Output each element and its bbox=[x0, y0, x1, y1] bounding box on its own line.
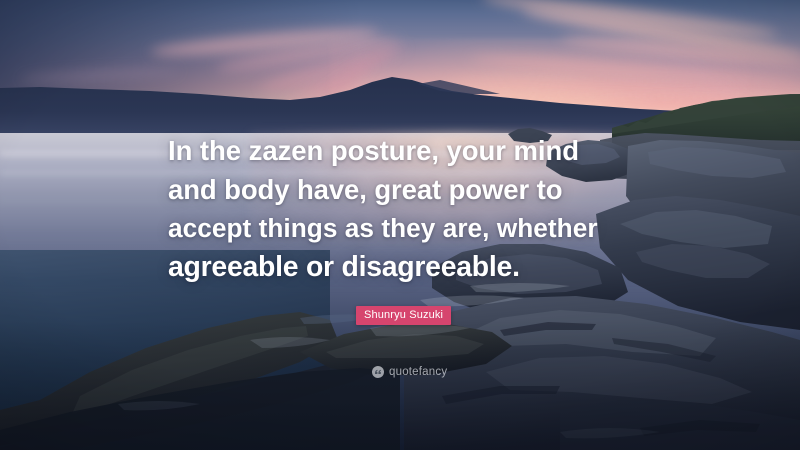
quote-line-1: In the zazen posture, your mind bbox=[168, 131, 636, 170]
quote-text-block: In the zazen posture, your mind and body… bbox=[168, 131, 636, 287]
quotefancy-brand-label: quotefancy bbox=[389, 366, 447, 378]
author-attribution-badge: Shunryu Suzuki bbox=[356, 306, 451, 325]
quote-poster: In the zazen posture, your mind and body… bbox=[0, 0, 800, 450]
quote-mark-icon bbox=[372, 366, 384, 378]
quotefancy-watermark: quotefancy bbox=[372, 366, 447, 378]
quote-line-3: accept things as they are, whether bbox=[168, 209, 636, 248]
quote-line-2: and body have, great power to bbox=[168, 170, 636, 209]
quote-line-4: agreeable or disagreeable. bbox=[168, 248, 636, 287]
